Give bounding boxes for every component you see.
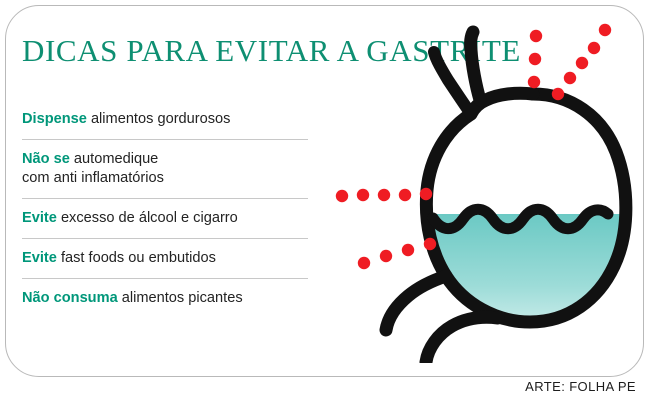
list-item: Evite fast foods ou embutidos [22,239,312,278]
list-item: Evite excesso de álcool e cigarro [22,199,312,238]
stomach-illustration [330,18,645,363]
tip-rest: automedique [70,151,158,167]
dots-top-right-diagonal [552,24,611,100]
tip-rest: alimentos gordurosos [87,111,231,127]
duodenum-lower-stroke [426,317,498,362]
esophagus-right-stroke [471,32,480,100]
dots-left-row [336,188,432,202]
tips-list: Dispense alimentos gordurosos Não se aut… [22,100,312,318]
tip-lead: Evite [22,210,57,226]
artwork-credit: ARTE: FOLHA PE [525,379,636,394]
tip-lead: Dispense [22,111,87,127]
tip-lead: Evite [22,250,57,266]
tip-lead: Não consuma [22,290,118,306]
gastritis-infographic: DICAS PARA EVITAR A GASTRITE Dispense al… [0,0,650,400]
duodenum-upper-stroke [386,276,446,330]
list-item: Não consuma alimentos picantes [22,279,312,318]
dots-top-left-column [528,30,542,88]
esophagus-left-stroke [434,52,471,114]
fluid-surface-wave [433,209,608,229]
tip-rest: excesso de álcool e cigarro [57,210,238,226]
tip-rest-line2: com anti inflamatórios [22,170,164,186]
list-item: Não se automedique com anti inflamatório… [22,140,312,198]
tip-lead: Não se [22,151,70,167]
dots-lower-left-diagonal [358,238,436,269]
tip-rest: fast foods ou embutidos [57,250,216,266]
tip-rest: alimentos picantes [118,290,243,306]
list-item: Dispense alimentos gordurosos [22,100,312,139]
